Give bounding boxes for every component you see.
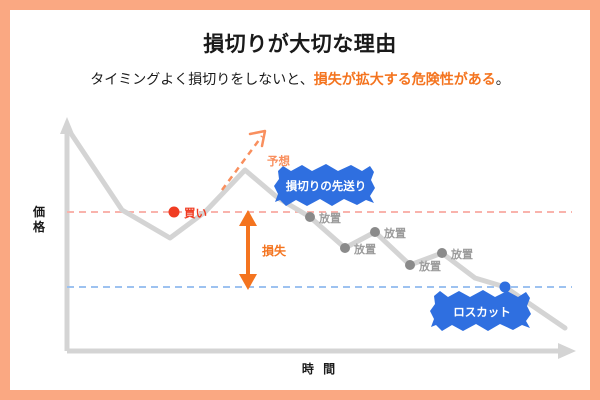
hold-point-marker[interactable] xyxy=(405,260,415,270)
x-axis xyxy=(67,343,576,359)
price-chart xyxy=(10,10,590,390)
hold-label: 放置 xyxy=(384,225,406,241)
hold-label: 放置 xyxy=(354,241,376,257)
y-axis xyxy=(60,117,74,351)
buy-point-marker[interactable] xyxy=(169,207,180,218)
badge-postpone-label[interactable]: 損切りの先送り xyxy=(278,178,374,194)
y-axis-label: 価格 xyxy=(28,205,50,235)
hold-point-marker[interactable] xyxy=(305,212,315,222)
hold-label: 放置 xyxy=(419,258,441,274)
hold-point-marker[interactable] xyxy=(340,243,350,253)
poster-inner: 損切りが大切な理由 タイミングよく損切りをしないと、損失が拡大する危険性がある。 xyxy=(10,10,590,390)
hold-label: 放置 xyxy=(451,246,473,262)
hold-point-marker[interactable] xyxy=(370,227,380,237)
hold-point-marker[interactable] xyxy=(437,248,447,258)
buy-label: 買い xyxy=(184,205,207,221)
x-axis-label: 時 間 xyxy=(260,360,380,377)
badge-losscut-label[interactable]: ロスカット xyxy=(434,304,530,320)
forecast-label: 予想 xyxy=(267,153,290,169)
poster-frame: 損切りが大切な理由 タイミングよく損切りをしないと、損失が拡大する危険性がある。 xyxy=(0,0,600,400)
losscut-point-marker[interactable] xyxy=(500,282,511,293)
hold-label: 放置 xyxy=(319,210,341,226)
loss-label: 損失 xyxy=(262,242,286,259)
loss-arrow-icon xyxy=(239,210,257,290)
